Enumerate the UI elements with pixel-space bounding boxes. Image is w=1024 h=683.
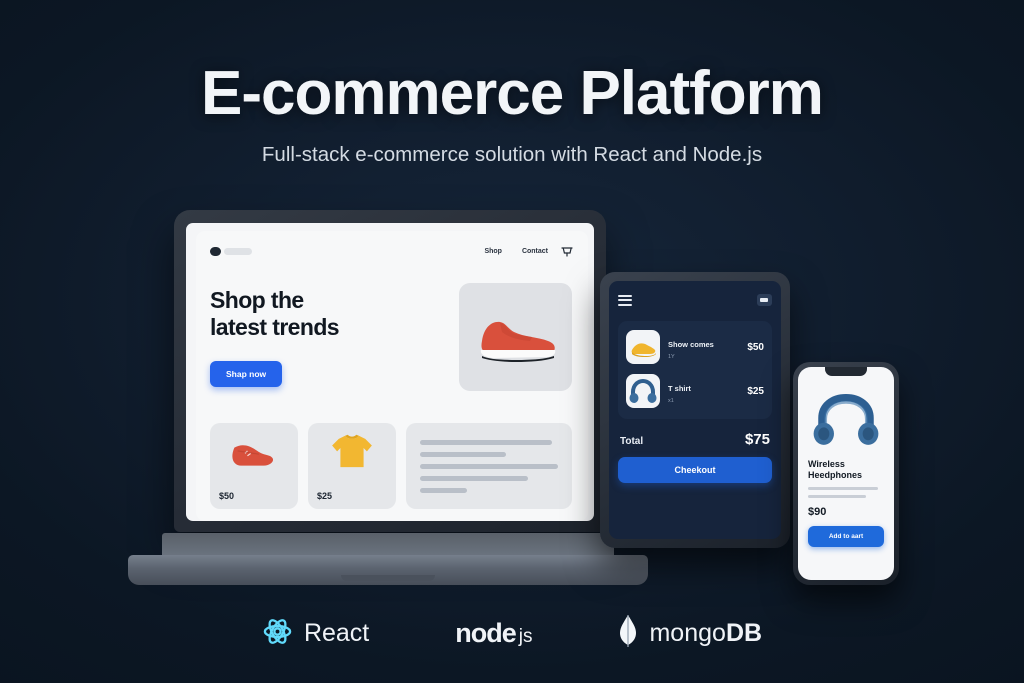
- laptop-storefront-page: Shop Contact Shop the latest trends: [196, 231, 588, 521]
- tech-item-react: React: [262, 616, 369, 652]
- tech-item-nodejs: node js: [455, 618, 532, 649]
- skeleton-line: [420, 488, 467, 493]
- hero-product-image: [459, 283, 572, 391]
- shop-now-button[interactable]: Shap now: [210, 361, 282, 387]
- laptop-lid: Shop Contact Shop the latest trends: [174, 210, 606, 532]
- sneaker-thumb-icon: [218, 431, 290, 479]
- total-value: $75: [745, 431, 770, 448]
- tech-item-mongodb: mongoDB: [618, 614, 762, 653]
- cart-item-info: T shirt x1: [668, 378, 739, 404]
- tablet-topbar: [618, 291, 772, 309]
- cart-line-item[interactable]: T shirt x1 $25: [626, 374, 764, 408]
- cart-item-price: $50: [747, 342, 764, 353]
- total-label: Total: [620, 436, 643, 447]
- cart-icon[interactable]: [560, 245, 574, 259]
- skeleton-line: [808, 495, 866, 498]
- hamburger-menu-icon[interactable]: [618, 295, 632, 306]
- headline-line-2: latest trends: [210, 314, 339, 341]
- react-atom-icon: [262, 616, 293, 652]
- product-title-line-2: Heedphones: [808, 470, 884, 481]
- nodejs-wordmark: node: [455, 618, 516, 649]
- laptop-screen: Shop Contact Shop the latest trends: [186, 223, 594, 521]
- headline-line-1: Shop the: [210, 287, 339, 314]
- page-subtitle: Full-stack e-commerce solution with Reac…: [0, 143, 1024, 167]
- laptop-mockup: Shop Contact Shop the latest trends: [128, 210, 648, 585]
- skeleton-line: [420, 476, 528, 481]
- laptop-base: [128, 555, 648, 585]
- product-card[interactable]: $50: [210, 423, 298, 509]
- storefront-navbar: Shop Contact: [210, 245, 574, 263]
- react-label: React: [304, 619, 369, 648]
- skeleton-line: [420, 452, 506, 457]
- card-icon[interactable]: [757, 294, 772, 306]
- nav-links: Shop Contact: [484, 248, 548, 255]
- mongodb-leaf-icon: [618, 614, 638, 653]
- product-description-card: [406, 423, 572, 509]
- mongodb-label-bold: DB: [726, 619, 762, 647]
- headphones-thumb: [626, 374, 660, 408]
- cart-total-row: Total $75: [620, 431, 770, 448]
- cart-item-name: Show comes: [668, 340, 714, 349]
- sneaker-illustration: [472, 307, 560, 365]
- product-price: $25: [317, 491, 332, 501]
- mongodb-label-light: mongo: [649, 619, 725, 647]
- product-title-line-1: Wireless: [808, 459, 884, 470]
- shoe-thumb: [626, 330, 660, 364]
- tshirt-thumb-icon: [324, 429, 380, 477]
- cart-item-name: T shirt: [668, 384, 691, 393]
- skeleton-line: [420, 440, 552, 445]
- phone-product-title: Wireless Heedphones: [808, 459, 884, 482]
- tablet-screen: Show comes 1Y $50 T shirt: [609, 281, 781, 539]
- phone-product-price: $90: [808, 506, 884, 518]
- cart-item-price: $25: [747, 386, 764, 397]
- cart-item-qty: x1: [668, 398, 739, 404]
- storefront-headline: Shop the latest trends: [210, 287, 339, 341]
- product-price: $50: [219, 491, 234, 501]
- checkout-button[interactable]: Cheekout: [618, 457, 772, 483]
- product-card[interactable]: $25: [308, 423, 396, 509]
- logo-mark-icon: [210, 247, 221, 256]
- phone-product-image: [808, 383, 884, 455]
- mongodb-label: mongoDB: [649, 619, 762, 648]
- tech-stack-row: React node js mongoDB: [0, 614, 1024, 653]
- product-card-row: $50 $25: [210, 423, 572, 509]
- store-logo[interactable]: [210, 247, 252, 256]
- page-title: E-commerce Platform: [0, 58, 1024, 129]
- nav-link-contact[interactable]: Contact: [522, 248, 548, 255]
- phone-mockup: Wireless Heedphones $90 Add to aart: [793, 362, 899, 585]
- cart-item-qty: 1Y: [668, 354, 739, 360]
- tablet-mockup: Show comes 1Y $50 T shirt: [600, 272, 790, 548]
- skeleton-line: [420, 464, 558, 469]
- add-to-cart-button[interactable]: Add to aart: [808, 526, 884, 547]
- cart-item-info: Show comes 1Y: [668, 334, 739, 360]
- nodejs-suffix: js: [519, 626, 533, 648]
- headphones-illustration: [809, 390, 883, 448]
- nav-link-shop[interactable]: Shop: [484, 248, 502, 255]
- cart-panel: Show comes 1Y $50 T shirt: [618, 321, 772, 419]
- phone-notch: [825, 367, 867, 376]
- logo-wordmark-placeholder: [224, 248, 252, 255]
- skeleton-line: [808, 487, 878, 490]
- phone-screen: Wireless Heedphones $90 Add to aart: [798, 367, 894, 580]
- hero-stage: E-commerce Platform Full-stack e-commerc…: [0, 0, 1024, 683]
- cart-line-item[interactable]: Show comes 1Y $50: [626, 330, 764, 364]
